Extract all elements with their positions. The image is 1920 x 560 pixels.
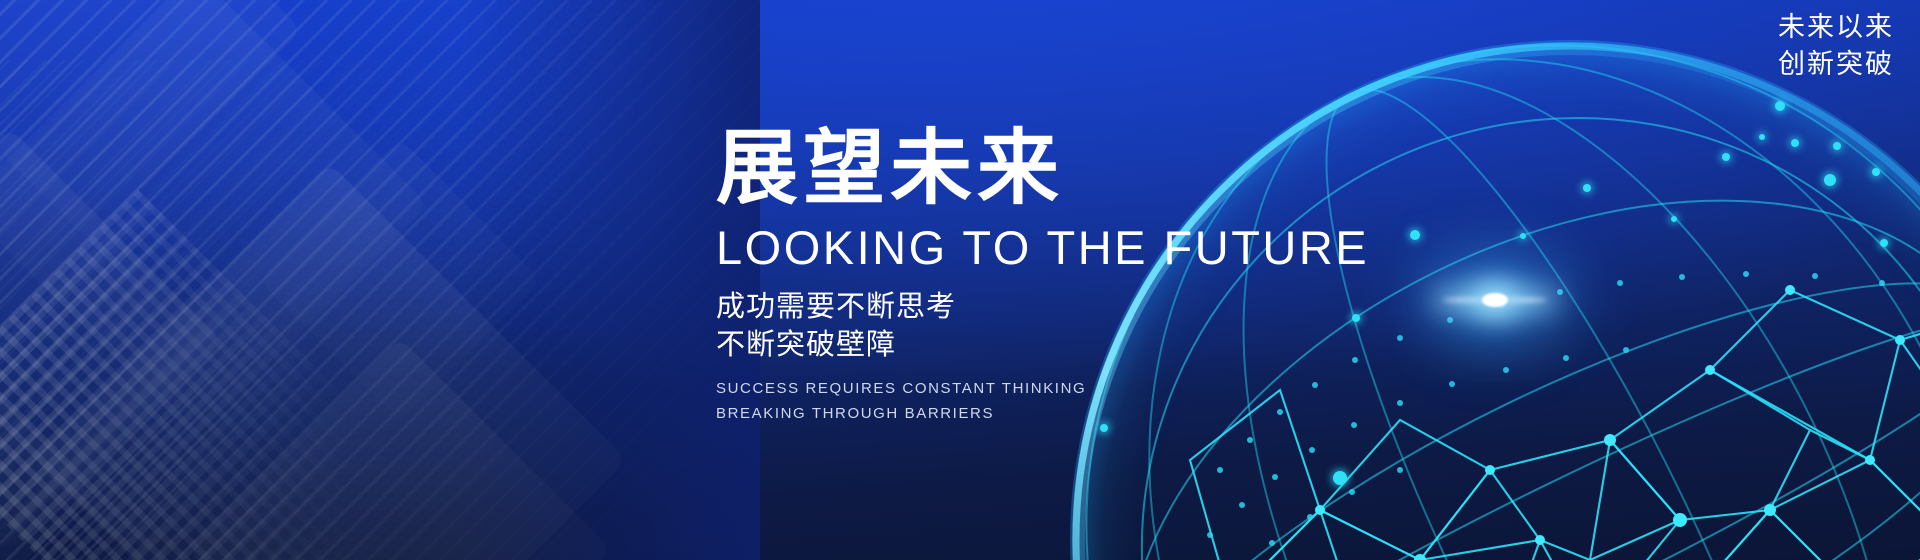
particle-dot — [1410, 230, 1420, 240]
particle-dot — [1824, 174, 1836, 186]
subtitle-english-line1: SUCCESS REQUIRES CONSTANT THINKING — [716, 376, 1369, 402]
particle-dot — [1671, 216, 1677, 222]
particle-dot — [1333, 471, 1347, 485]
particle-dot — [1722, 153, 1730, 161]
particle-dot — [1520, 233, 1526, 239]
subtitle-chinese-line2: 不断突破壁障 — [716, 325, 1369, 363]
corner-slogan-line2: 创新突破 — [1778, 47, 1894, 84]
geometry-fade-mask — [460, 0, 760, 560]
promo-banner: 展望未来 LOOKING TO THE FUTURE 成功需要不断思考 不断突破… — [0, 0, 1920, 560]
corner-slogan: 未来以来 创新突破 — [1778, 10, 1894, 83]
subtitle-chinese: 成功需要不断思考 不断突破壁障 — [716, 287, 1369, 364]
subtitle-english: SUCCESS REQUIRES CONSTANT THINKING BREAK… — [716, 376, 1369, 428]
particle-dot — [1880, 239, 1888, 247]
geometric-decoration — [0, 0, 760, 560]
page-title: 展望未来 — [716, 128, 1369, 210]
particle-dot — [1791, 139, 1799, 147]
particle-dot — [1583, 184, 1591, 192]
particle-dot — [1775, 101, 1785, 111]
corner-slogan-line1: 未来以来 — [1778, 10, 1894, 47]
page-title-english: LOOKING TO THE FUTURE — [716, 224, 1369, 271]
subtitle-english-line2: BREAKING THROUGH BARRIERS — [716, 401, 1369, 427]
particle-dot — [1759, 134, 1765, 140]
particle-dot — [1833, 142, 1841, 150]
headline-block: 展望未来 LOOKING TO THE FUTURE 成功需要不断思考 不断突破… — [716, 128, 1369, 427]
particle-dot — [1872, 168, 1880, 176]
subtitle-chinese-line1: 成功需要不断思考 — [716, 287, 1369, 325]
